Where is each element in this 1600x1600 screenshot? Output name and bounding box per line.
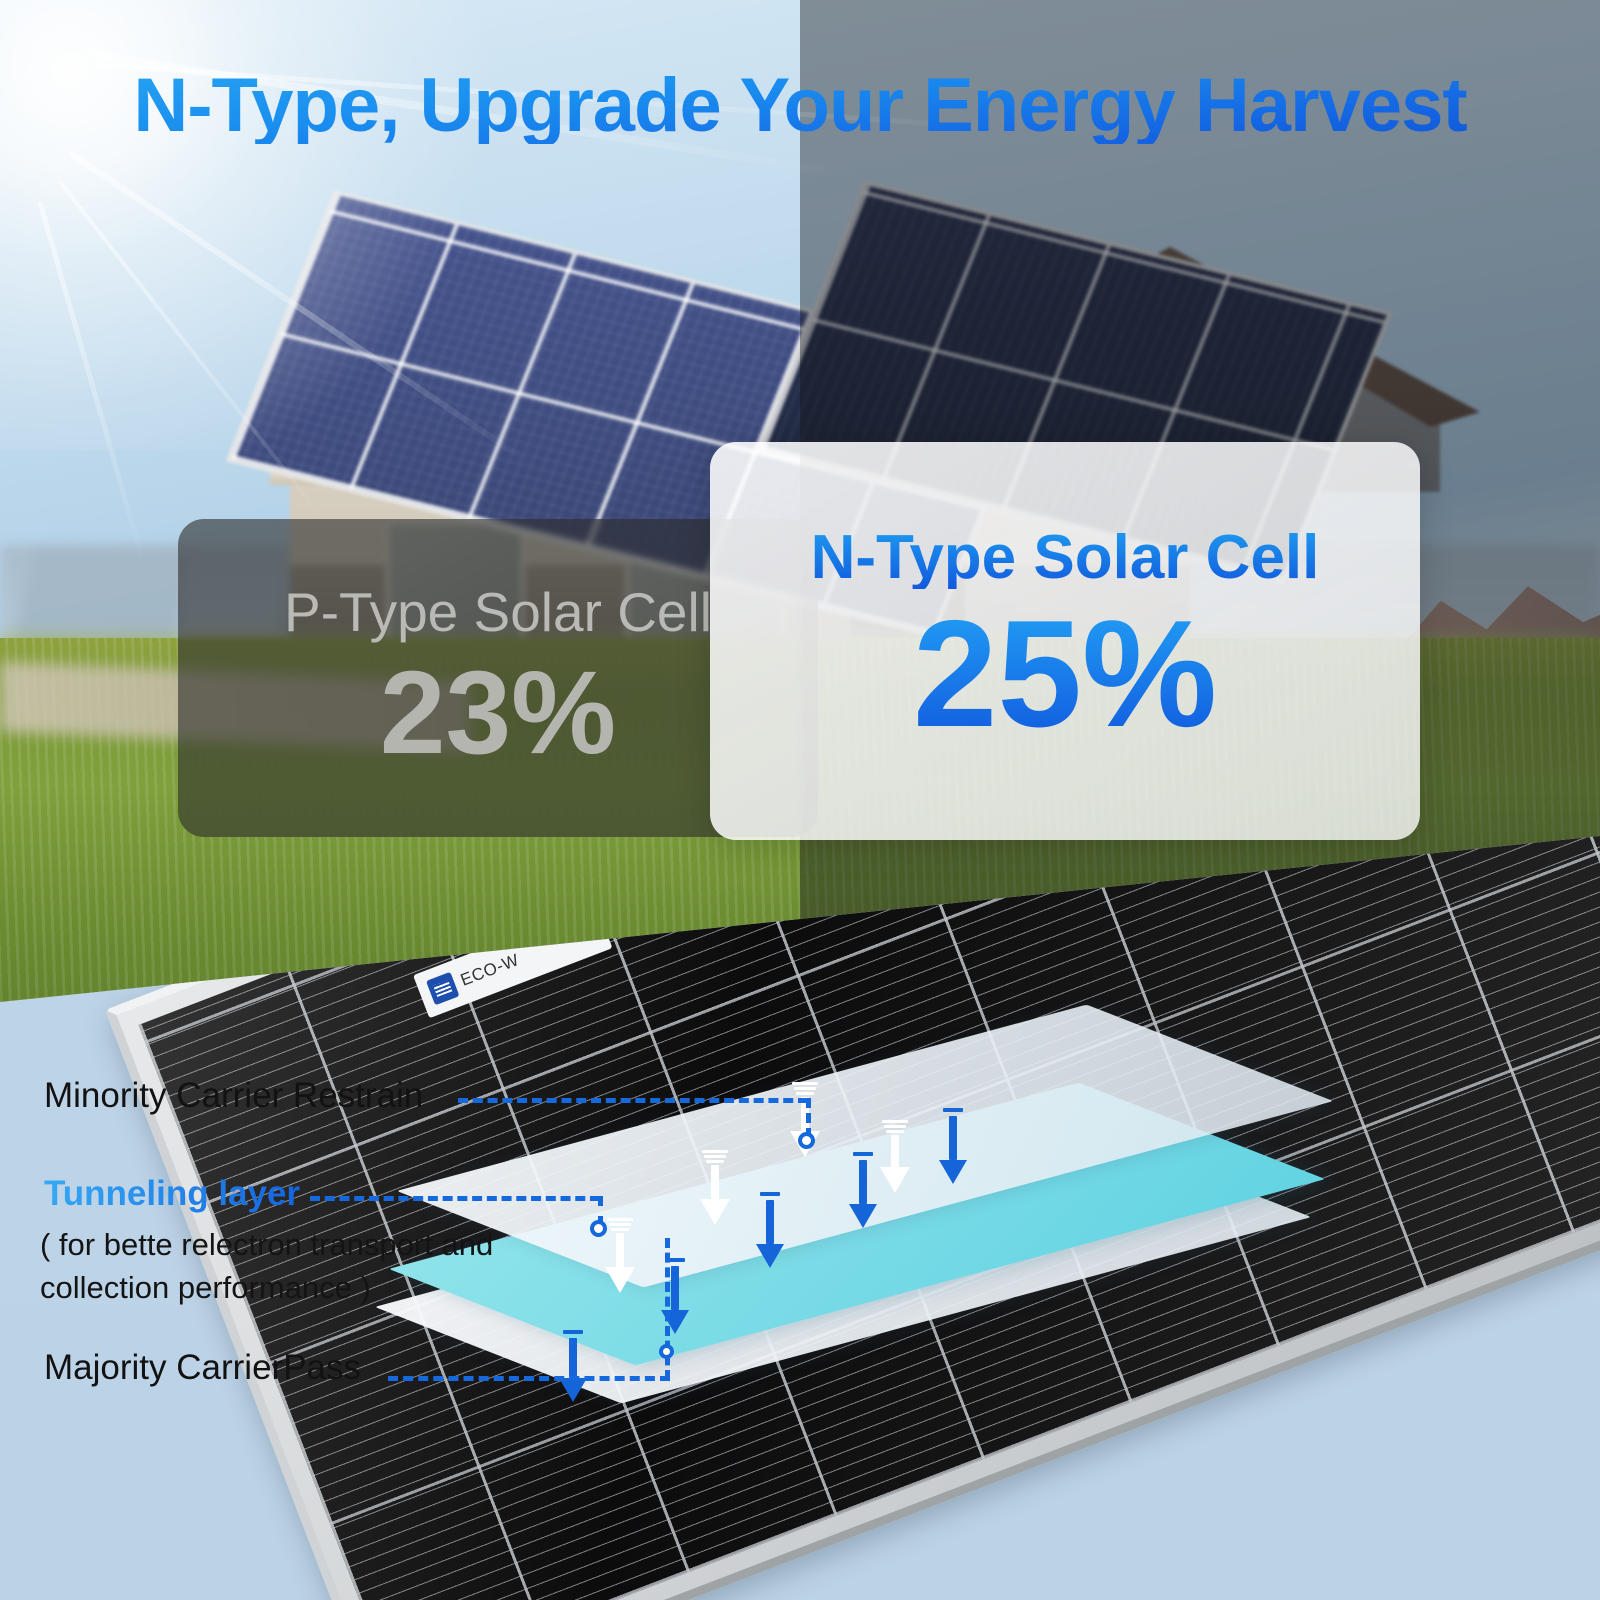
majority-carrier-arrow xyxy=(848,1152,878,1228)
minority-callout-line xyxy=(458,1098,808,1103)
tunneling-callout-endpoint xyxy=(590,1220,607,1237)
brand-logo-icon xyxy=(426,972,460,1006)
minority-carrier-arrow xyxy=(700,1150,730,1225)
p-type-label: P-Type Solar Cell xyxy=(284,585,712,640)
majority-carrier-arrow xyxy=(558,1330,588,1402)
minority-carrier-arrow xyxy=(880,1120,910,1193)
label-majority-carrier-pass: Majority CarrierPass xyxy=(44,1348,361,1388)
n-type-efficiency-value: 25% xyxy=(913,595,1217,755)
brand-name: ECO-W xyxy=(458,950,522,991)
n-type-label: N-Type Solar Cell xyxy=(811,527,1320,589)
label-tunneling-note: ( for bette relectron transport and coll… xyxy=(40,1224,560,1310)
majority-callout-line xyxy=(388,1376,670,1381)
majority-callout-endpoint xyxy=(659,1344,674,1359)
p-type-efficiency-value: 23% xyxy=(380,654,616,772)
label-minority-carrier-restrain: Minority Carrier Restrain xyxy=(44,1076,423,1116)
n-type-comparison-card: N-Type Solar Cell 25% xyxy=(710,442,1420,840)
majority-carrier-arrow xyxy=(938,1108,968,1184)
infographic-canvas: N-Type, Upgrade Your Energy Harvest P-Ty… xyxy=(0,0,1600,1600)
minority-callout-endpoint xyxy=(798,1132,815,1149)
tunneling-callout-line xyxy=(310,1196,600,1201)
minority-carrier-arrow xyxy=(605,1218,635,1293)
majority-carrier-arrow xyxy=(755,1192,785,1268)
page-title: N-Type, Upgrade Your Energy Harvest xyxy=(0,68,1600,144)
label-tunneling-layer: Tunneling layer xyxy=(44,1174,300,1214)
